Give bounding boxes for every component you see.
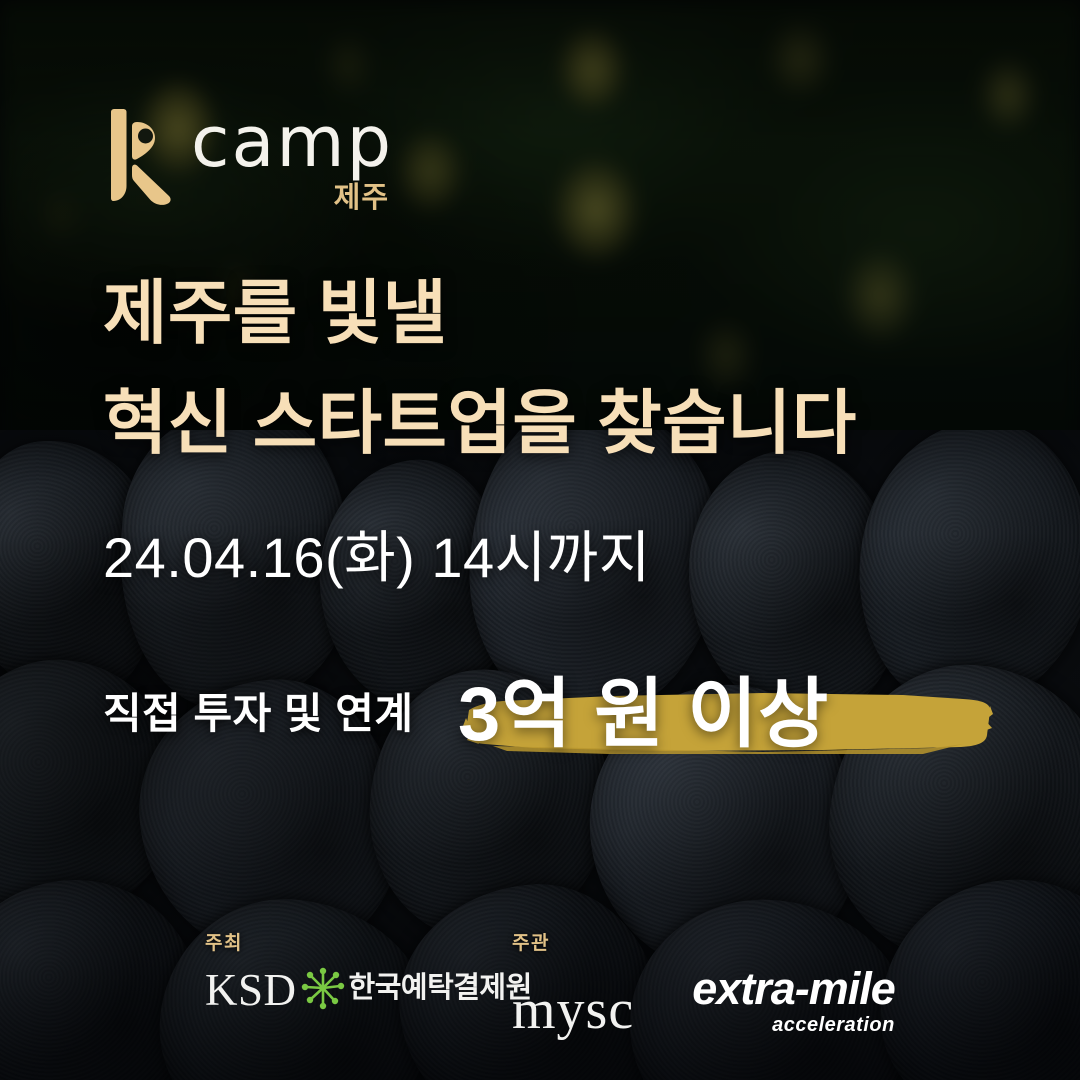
funding-amount: 3억 원 이상 [458, 650, 829, 762]
funding-label: 직접 투자 및 연계 [103, 680, 414, 741]
sponsor-logos-host: KSD [205, 966, 532, 1014]
funding-highlight-block: 직접 투자 및 연계 3억 원 이상 [103, 658, 1003, 768]
sponsor-role-organizer: 주관 [512, 928, 895, 955]
ksd-korean-name: 한국예탁결제원 [349, 974, 532, 1006]
logo-wordmark: camp [191, 112, 393, 174]
brand-logo[interactable]: camp 제주 [103, 108, 393, 213]
ksd-letters: KSD [205, 968, 297, 1013]
poster-canvas: camp 제주 제주를 빛낼 혁신 스타트업을 찾습니다 24.04.16(화)… [0, 0, 1080, 1080]
headline-line-1: 제주를 빛낼 [103, 278, 1003, 348]
deadline-text: 24.04.16(화) 14시까지 [103, 513, 651, 594]
ksd-logo[interactable]: KSD [205, 966, 532, 1014]
headline-block: 제주를 빛낼 혁신 스타트업을 찾습니다 [103, 278, 1003, 458]
ksd-green-starburst-icon [301, 966, 345, 1010]
funding-amount-group: 3억 원 이상 [458, 650, 829, 760]
extra-mile-tagline: acceleration [772, 1015, 895, 1035]
sponsor-group-host: 주최 KSD [205, 928, 532, 1014]
sponsor-role-host: 주최 [205, 928, 532, 955]
extra-mile-wordmark: extra-mile [692, 966, 895, 1011]
logo-region-label: 제주 [334, 184, 389, 213]
sponsor-group-organizer: 주관 mysc extra-mile acceleration [512, 928, 895, 1035]
sponsor-bar: 주최 KSD [0, 928, 1080, 1058]
sponsor-logos-organizer: mysc extra-mile acceleration [512, 966, 895, 1035]
mysc-logo[interactable]: mysc [512, 985, 634, 1035]
logo-wordmark-group: camp 제주 [191, 108, 393, 213]
extra-mile-logo[interactable]: extra-mile acceleration [692, 966, 895, 1035]
k-camp-k-mark-icon [103, 108, 175, 212]
headline-line-2: 혁신 스타트업을 찾습니다 [103, 388, 1003, 458]
